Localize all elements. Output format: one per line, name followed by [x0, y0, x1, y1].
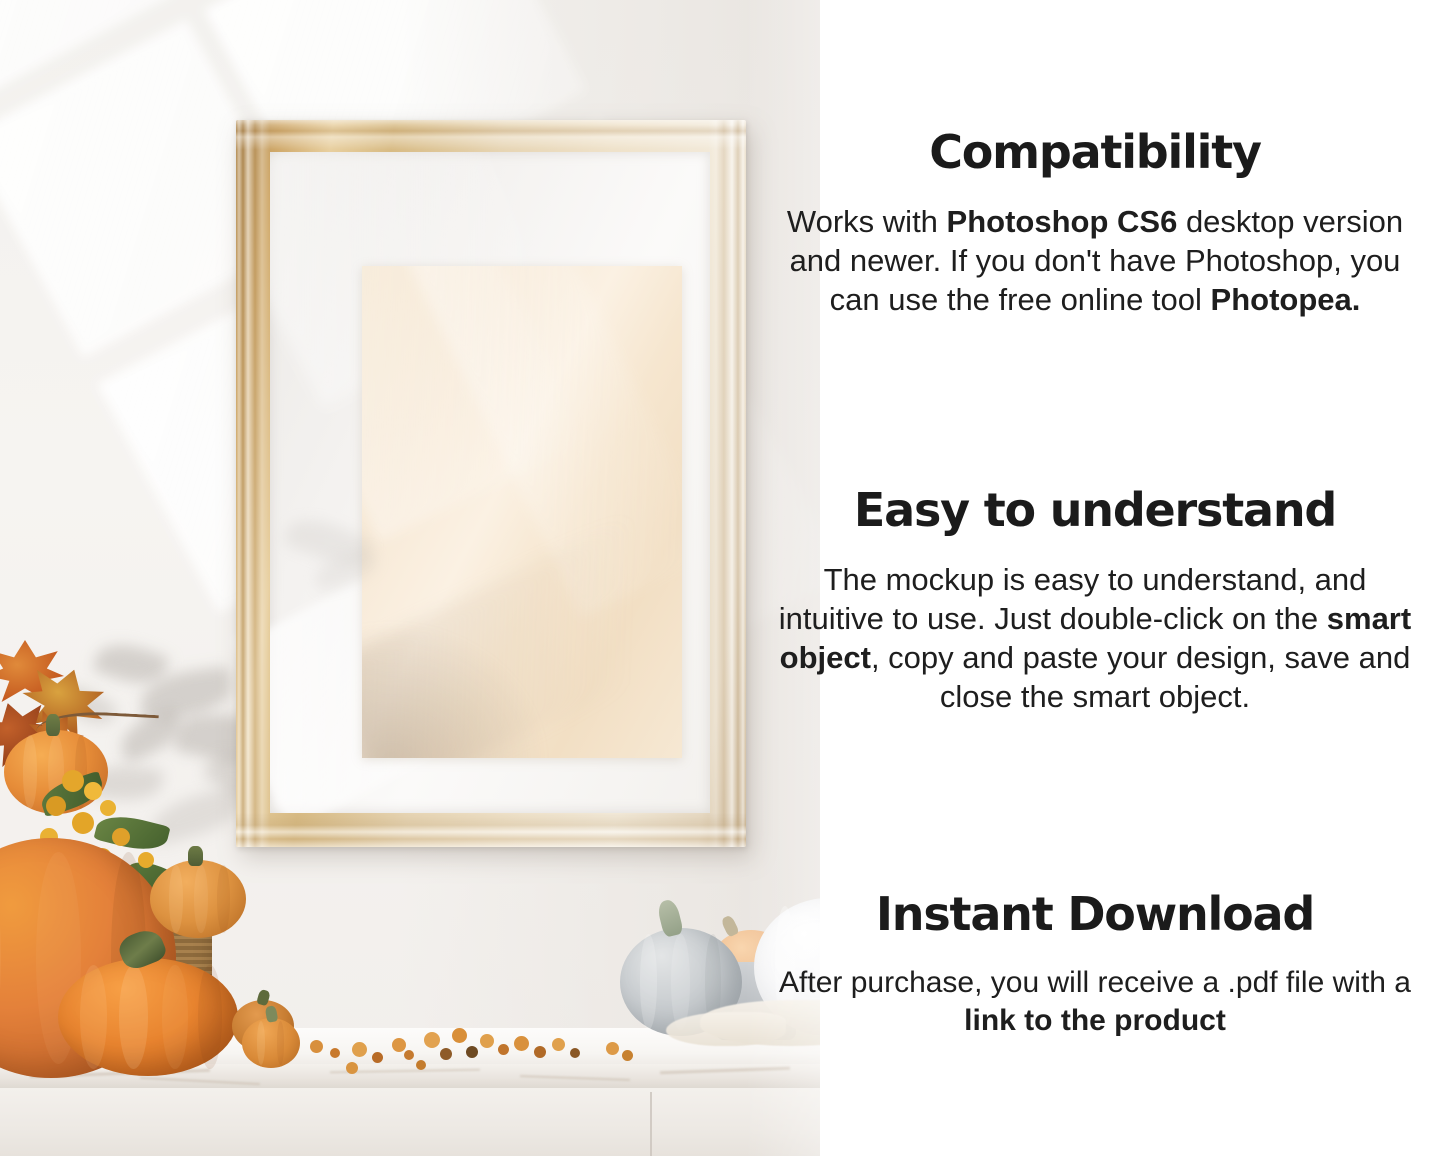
orange-pumpkin-tiny-front	[242, 1018, 300, 1068]
orange-pumpkin-large	[58, 958, 238, 1076]
text-run-bold: link to the product	[964, 1004, 1226, 1037]
heading-easy-to-understand: Easy to understand	[775, 486, 1415, 534]
picture-frame[interactable]	[236, 120, 746, 847]
info-block-easy-to-understand: Easy to understand The mockup is easy to…	[775, 486, 1415, 716]
body-easy-to-understand: The mockup is easy to understand, and in…	[775, 560, 1415, 716]
poster-corner-shadow	[362, 618, 552, 758]
cabinet-seam	[650, 1092, 652, 1156]
text-run: Works with	[787, 204, 947, 239]
pumpkin-stem	[46, 714, 60, 736]
text-run-bold: Photopea.	[1211, 282, 1361, 317]
smart-object-poster[interactable]	[362, 266, 682, 758]
heading-compatibility: Compatibility	[775, 128, 1415, 176]
body-compatibility: Works with Photoshop CS6 desktop version…	[775, 202, 1415, 319]
body-instant-download: After purchase, you will receive a .pdf …	[775, 964, 1415, 1040]
info-block-instant-download: Instant Download After purchase, you wil…	[775, 890, 1415, 1040]
text-run: The mockup is easy to understand, and in…	[779, 562, 1367, 636]
orange-pumpkin-mid	[150, 860, 246, 938]
info-block-compatibility: Compatibility Works with Photoshop CS6 d…	[775, 128, 1415, 319]
text-run-bold: Photoshop CS6	[947, 204, 1178, 239]
text-run: , copy and paste your design, save and c…	[871, 640, 1410, 714]
text-run: After purchase, you will receive a .pdf …	[779, 966, 1411, 999]
white-cabinet	[0, 1088, 820, 1156]
frame-mat	[270, 152, 710, 813]
listing-image: Compatibility Works with Photoshop CS6 d…	[0, 0, 1445, 1156]
cream-cloth-tail	[666, 1012, 786, 1046]
heading-instant-download: Instant Download	[775, 890, 1415, 938]
interior-photo-scene	[0, 0, 820, 1156]
